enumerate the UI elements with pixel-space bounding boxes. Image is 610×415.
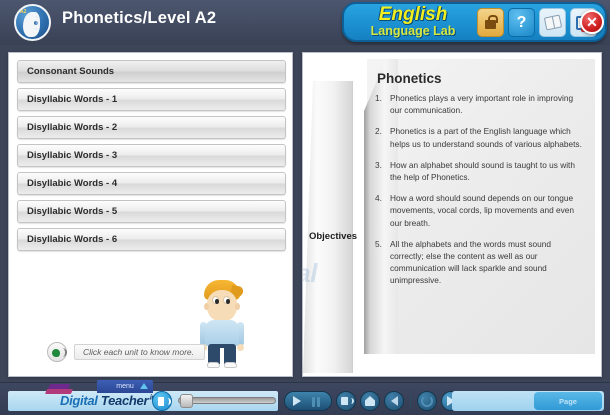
objective-item: 5.All the alphabets and the words must s…: [375, 238, 585, 287]
bottom-toolbar: Digital Teacher.in menu Page: [0, 382, 610, 415]
menu-button[interactable]: menu: [97, 380, 153, 393]
replay-button[interactable]: [417, 391, 437, 411]
phonetics-face-logo-icon: A2 ≈≋≈: [14, 4, 51, 41]
objectives-tab-label: Objectives: [307, 231, 359, 242]
click-hand-icon: [47, 342, 67, 362]
play-icon: [293, 396, 301, 406]
objective-text: How an alphabet should sound is taught t…: [390, 160, 575, 182]
list-item[interactable]: Consonant Sounds: [17, 60, 286, 83]
list-item[interactable]: Disyllabic Words - 5: [17, 200, 286, 223]
help-icon[interactable]: ?: [508, 8, 535, 37]
speaker-icon: [341, 397, 348, 405]
objectives-panel: Phonetics 1.Phonetics plays a very impor…: [302, 52, 602, 377]
objective-number: 5.: [375, 238, 382, 250]
digital-teacher-logo: Digital Teacher.in: [60, 393, 155, 408]
hint-row: Click each unit to know more.: [47, 342, 247, 362]
stop-icon: [365, 396, 375, 406]
objective-text: All the alphabets and the words must sou…: [390, 239, 551, 286]
objective-item: 3.How an alphabet should sound is taught…: [375, 159, 585, 183]
play-pause-button[interactable]: [284, 391, 332, 411]
close-icon[interactable]: ✕: [580, 10, 604, 34]
hint-text: Click each unit to know more.: [74, 344, 205, 360]
media-controls: [284, 391, 461, 411]
brand-line-2: Language Lab: [352, 24, 474, 38]
unit-list-panel: Consonant SoundsDisyllabic Words - 1Disy…: [8, 52, 293, 377]
volume-slider-thumb[interactable]: [180, 394, 193, 408]
lock-icon[interactable]: [477, 8, 504, 37]
content-title: Phonetics: [377, 71, 442, 86]
book-icon[interactable]: [539, 8, 566, 37]
toolbar-divider: [410, 394, 411, 409]
application-window: A2 ≈≋≈ Phonetics/Level A2 English Langua…: [0, 0, 610, 415]
unit-list: Consonant SoundsDisyllabic Words - 1Disy…: [17, 60, 286, 256]
objective-item: 2.Phonetics is a part of the English lan…: [375, 125, 585, 149]
objective-text: How a word should sound depends on our t…: [390, 193, 574, 227]
stop-button[interactable]: [360, 391, 380, 411]
objective-text: Phonetics is a part of the English langu…: [390, 126, 582, 148]
logo-word-teacher: Teacher: [98, 393, 149, 408]
objective-text: Phonetics plays a very important role in…: [390, 93, 573, 115]
list-item[interactable]: Disyllabic Words - 1: [17, 88, 286, 111]
list-item[interactable]: Disyllabic Words - 6: [17, 228, 286, 251]
objective-number: 4.: [375, 192, 382, 204]
pause-icon: [312, 397, 320, 407]
objective-number: 3.: [375, 159, 382, 171]
replay-icon: [421, 395, 433, 407]
brand-badge: English Language Lab ?: [342, 2, 607, 42]
objective-list: 1.Phonetics plays a very important role …: [375, 92, 585, 296]
objective-item: 4.How a word should sound depends on our…: [375, 192, 585, 229]
previous-icon: [391, 396, 398, 406]
page-title: Phonetics/Level A2: [62, 9, 216, 28]
objectives-tab[interactable]: [303, 81, 353, 373]
page-chip[interactable]: Page: [534, 392, 602, 410]
objective-number: 1.: [375, 92, 382, 104]
volume-toggle-button[interactable]: [336, 391, 356, 411]
sound-waves-icon: ≈≋≈: [35, 15, 45, 35]
previous-button[interactable]: [384, 391, 404, 411]
brand-text: English Language Lab: [352, 5, 474, 38]
chevron-up-icon: [140, 383, 148, 389]
page-content: Phonetics 1.Phonetics plays a very impor…: [367, 59, 595, 354]
header-icon-group: ?: [477, 8, 597, 37]
list-item[interactable]: Disyllabic Words - 4: [17, 172, 286, 195]
list-item[interactable]: Disyllabic Words - 2: [17, 116, 286, 139]
page-seek-bar[interactable]: Page: [452, 391, 604, 411]
objective-item: 1.Phonetics plays a very important role …: [375, 92, 585, 116]
logo-word-digital: Digital: [60, 393, 98, 408]
title-bar: A2 ≈≋≈ Phonetics/Level A2 English Langua…: [0, 0, 610, 45]
menu-label: menu: [116, 383, 134, 390]
volume-button[interactable]: [152, 391, 172, 411]
objective-number: 2.: [375, 125, 382, 137]
brand-line-1: English: [352, 5, 474, 24]
list-item[interactable]: Disyllabic Words - 3: [17, 144, 286, 167]
